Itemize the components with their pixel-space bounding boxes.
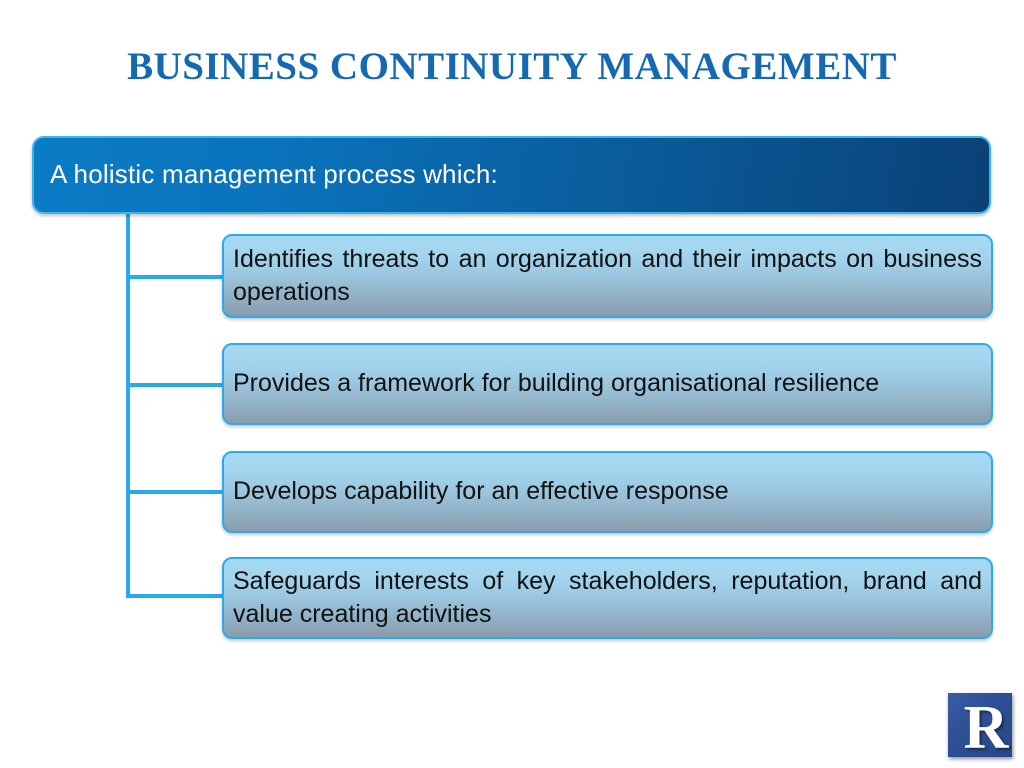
connector-branch-4 [126, 594, 224, 598]
content-box-2-label: Provides a framework for building organi… [233, 367, 982, 401]
brand-logo-letter: R [964, 697, 1009, 757]
brand-logo: R [948, 693, 1012, 757]
slide-canvas: BUSINESS CONTINUITY MANAGEMENT A holisti… [0, 0, 1024, 768]
content-box-3-label: Develops capability for an effective res… [233, 475, 982, 509]
page-title: BUSINESS CONTINUITY MANAGEMENT [0, 44, 1024, 89]
connector-branch-1 [126, 275, 224, 279]
content-box-1-label: Identifies threats to an organization an… [233, 243, 982, 310]
content-box-2: Provides a framework for building organi… [222, 343, 993, 425]
content-box-3: Develops capability for an effective res… [222, 451, 993, 533]
header-banner-label: A holistic management process which: [50, 160, 498, 190]
connector-branch-2 [126, 383, 224, 387]
content-box-4: Safeguards interests of key stakeholders… [222, 557, 993, 639]
header-banner: A holistic management process which: [32, 136, 991, 214]
content-box-1: Identifies threats to an organization an… [222, 234, 993, 318]
connector-trunk-line [126, 213, 130, 598]
content-box-4-label: Safeguards interests of key stakeholders… [233, 565, 982, 632]
connector-branch-3 [126, 490, 224, 494]
